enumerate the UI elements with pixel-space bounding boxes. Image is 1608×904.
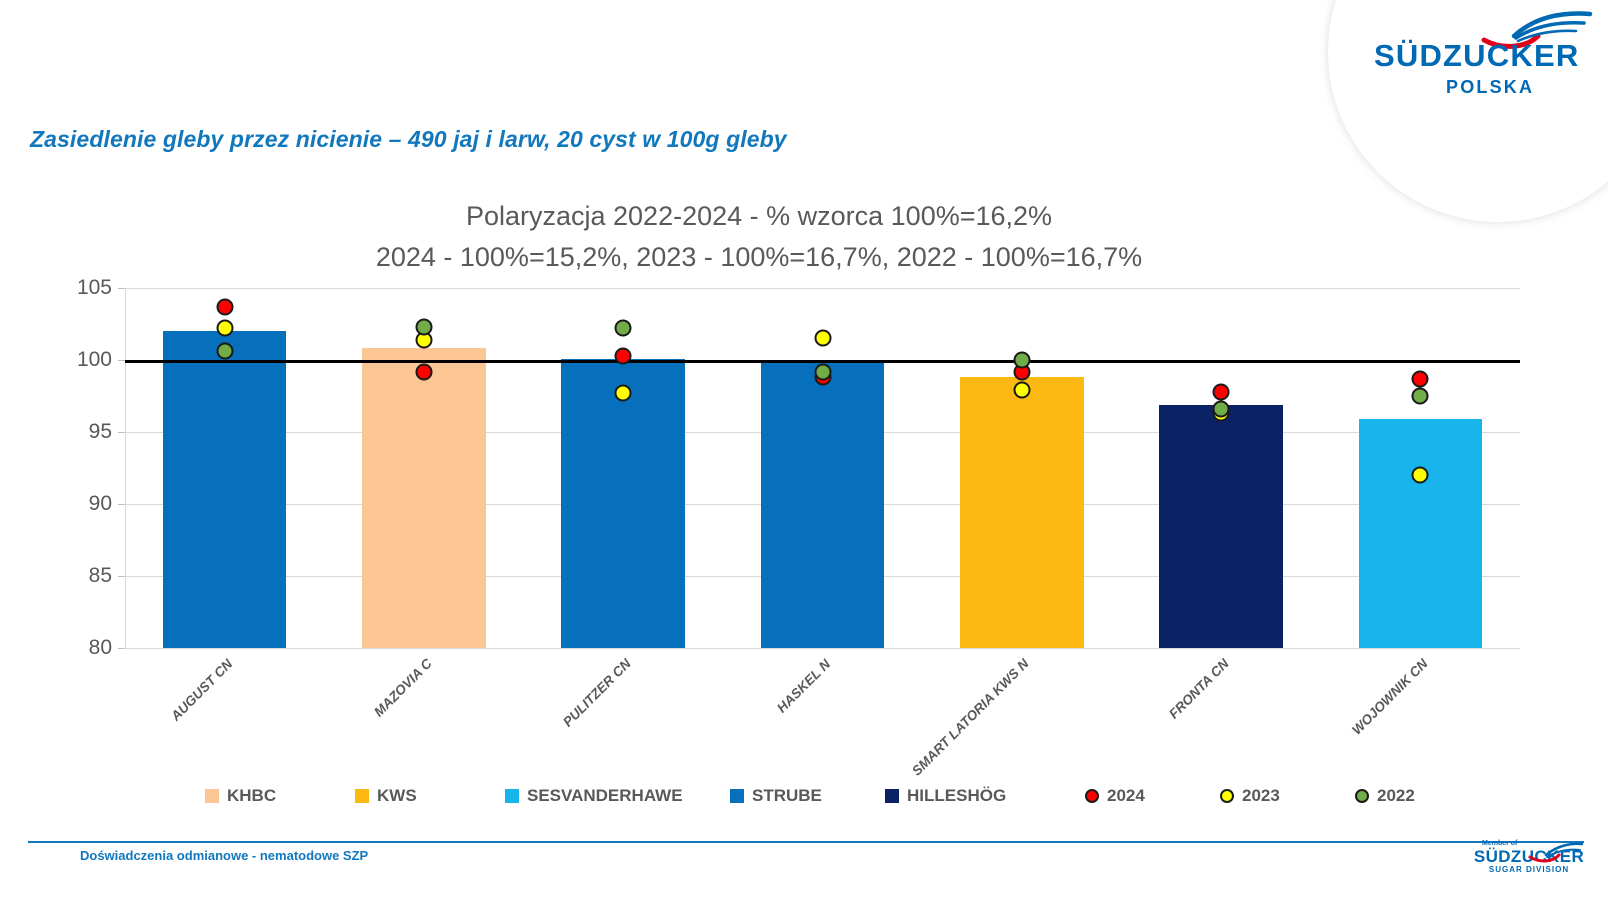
logo-subwordmark: POLSKA xyxy=(1446,77,1534,98)
legend-label: SESVANDERHAWE xyxy=(527,786,683,806)
legend-dot-icon xyxy=(1355,789,1369,803)
legend-item[interactable]: 2022 xyxy=(1355,786,1415,806)
data-point-marker[interactable] xyxy=(1213,400,1230,417)
data-point-marker[interactable] xyxy=(814,330,831,347)
gridline xyxy=(125,288,1520,289)
legend-square-icon xyxy=(205,789,219,803)
plot-area: 80859095100105 AUGUST CNMAZOVIA CPULITZE… xyxy=(0,288,1608,758)
legend-label: 2024 xyxy=(1107,786,1145,806)
data-point-marker[interactable] xyxy=(415,363,432,380)
chart-legend: KHBCKWSSESVANDERHAWESTRUBEHILLESHÖG20242… xyxy=(0,786,1608,814)
y-axis-tick-mark xyxy=(118,648,125,649)
legend-label: 2023 xyxy=(1242,786,1280,806)
x-axis-label: FRONTA CN xyxy=(1166,656,1232,722)
y-axis-tick-label: 100 xyxy=(58,348,112,372)
legend-item[interactable]: HILLESHÖG xyxy=(885,786,1006,806)
data-point-marker[interactable] xyxy=(615,385,632,402)
data-point-marker[interactable] xyxy=(415,318,432,335)
y-axis-tick-label: 85 xyxy=(58,564,112,588)
bar[interactable] xyxy=(561,359,685,648)
legend-dot-icon xyxy=(1220,789,1234,803)
y-axis-tick-mark xyxy=(118,432,125,433)
legend-label: HILLESHÖG xyxy=(907,786,1006,806)
gridline xyxy=(125,648,1520,649)
data-point-marker[interactable] xyxy=(1412,370,1429,387)
y-axis-tick-mark xyxy=(118,288,125,289)
y-axis-tick-mark xyxy=(118,504,125,505)
logo-wordmark: SÜDZUCKER xyxy=(1374,38,1584,74)
legend-label: STRUBE xyxy=(752,786,822,806)
y-axis-tick-label: 90 xyxy=(58,492,112,516)
footer-text: Doświadczenia odmianowe - nematodowe SZP xyxy=(80,848,368,863)
sudzucker-sugar-division-logo: Member of SÜDZUCKER SUGAR DIVISION xyxy=(1470,840,1588,890)
chart-title-line2: 2024 - 100%=15,2%, 2023 - 100%=16,7%, 20… xyxy=(40,237,1478,278)
legend-item[interactable]: STRUBE xyxy=(730,786,822,806)
bar[interactable] xyxy=(1159,405,1283,648)
bar[interactable] xyxy=(362,348,486,648)
chart-title-line1: Polaryzacja 2022-2024 - % wzorca 100%=16… xyxy=(40,196,1478,237)
legend-dot-icon xyxy=(1085,789,1099,803)
footer-logo-subwordmark: SUGAR DIVISION xyxy=(1470,865,1588,874)
y-axis-tick-mark xyxy=(118,576,125,577)
x-axis-label: MAZOVIA C xyxy=(371,656,435,720)
legend-label: KHBC xyxy=(227,786,276,806)
footer-divider xyxy=(28,841,1584,843)
data-point-marker[interactable] xyxy=(814,363,831,380)
data-point-marker[interactable] xyxy=(1013,382,1030,399)
data-point-marker[interactable] xyxy=(1412,467,1429,484)
bar[interactable] xyxy=(1359,419,1483,648)
legend-square-icon xyxy=(885,789,899,803)
legend-item[interactable]: SESVANDERHAWE xyxy=(505,786,683,806)
y-axis-tick-label: 95 xyxy=(58,420,112,444)
bar[interactable] xyxy=(163,331,287,648)
page-title: Zasiedlenie gleby przez nicienie – 490 j… xyxy=(30,126,787,153)
chart-container: Polaryzacja 2022-2024 - % wzorca 100%=16… xyxy=(0,196,1608,776)
x-axis-label: PULITZER CN xyxy=(560,656,634,730)
y-axis-tick-label: 80 xyxy=(58,636,112,660)
data-point-marker[interactable] xyxy=(1412,388,1429,405)
legend-square-icon xyxy=(730,789,744,803)
data-point-marker[interactable] xyxy=(1213,383,1230,400)
x-axis-label: AUGUST CN xyxy=(168,656,235,723)
data-point-marker[interactable] xyxy=(615,320,632,337)
plot-box xyxy=(125,288,1520,648)
x-axis-label: WOJOWNIK CN xyxy=(1349,656,1431,738)
chart-title: Polaryzacja 2022-2024 - % wzorca 100%=16… xyxy=(0,196,1608,278)
data-point-marker[interactable] xyxy=(615,347,632,364)
legend-square-icon xyxy=(505,789,519,803)
legend-item[interactable]: KWS xyxy=(355,786,417,806)
data-point-marker[interactable] xyxy=(216,343,233,360)
legend-label: KWS xyxy=(377,786,417,806)
data-point-marker[interactable] xyxy=(216,298,233,315)
legend-item[interactable]: KHBC xyxy=(205,786,276,806)
sudzucker-polska-logo: SÜDZUCKER POLSKA xyxy=(1374,14,1584,100)
bar[interactable] xyxy=(960,377,1084,648)
bar[interactable] xyxy=(761,363,885,648)
data-point-marker[interactable] xyxy=(1013,352,1030,369)
x-axis-label: SMART LATORIA KWS N xyxy=(909,656,1032,779)
y-axis-tick-label: 105 xyxy=(58,276,112,300)
footer-logo-swoosh-icon xyxy=(1526,842,1584,864)
legend-item[interactable]: 2024 xyxy=(1085,786,1145,806)
x-axis-label: HASKEL N xyxy=(774,656,833,715)
y-axis-tick-mark xyxy=(118,360,125,361)
legend-square-icon xyxy=(355,789,369,803)
data-point-marker[interactable] xyxy=(216,320,233,337)
legend-item[interactable]: 2023 xyxy=(1220,786,1280,806)
legend-label: 2022 xyxy=(1377,786,1415,806)
